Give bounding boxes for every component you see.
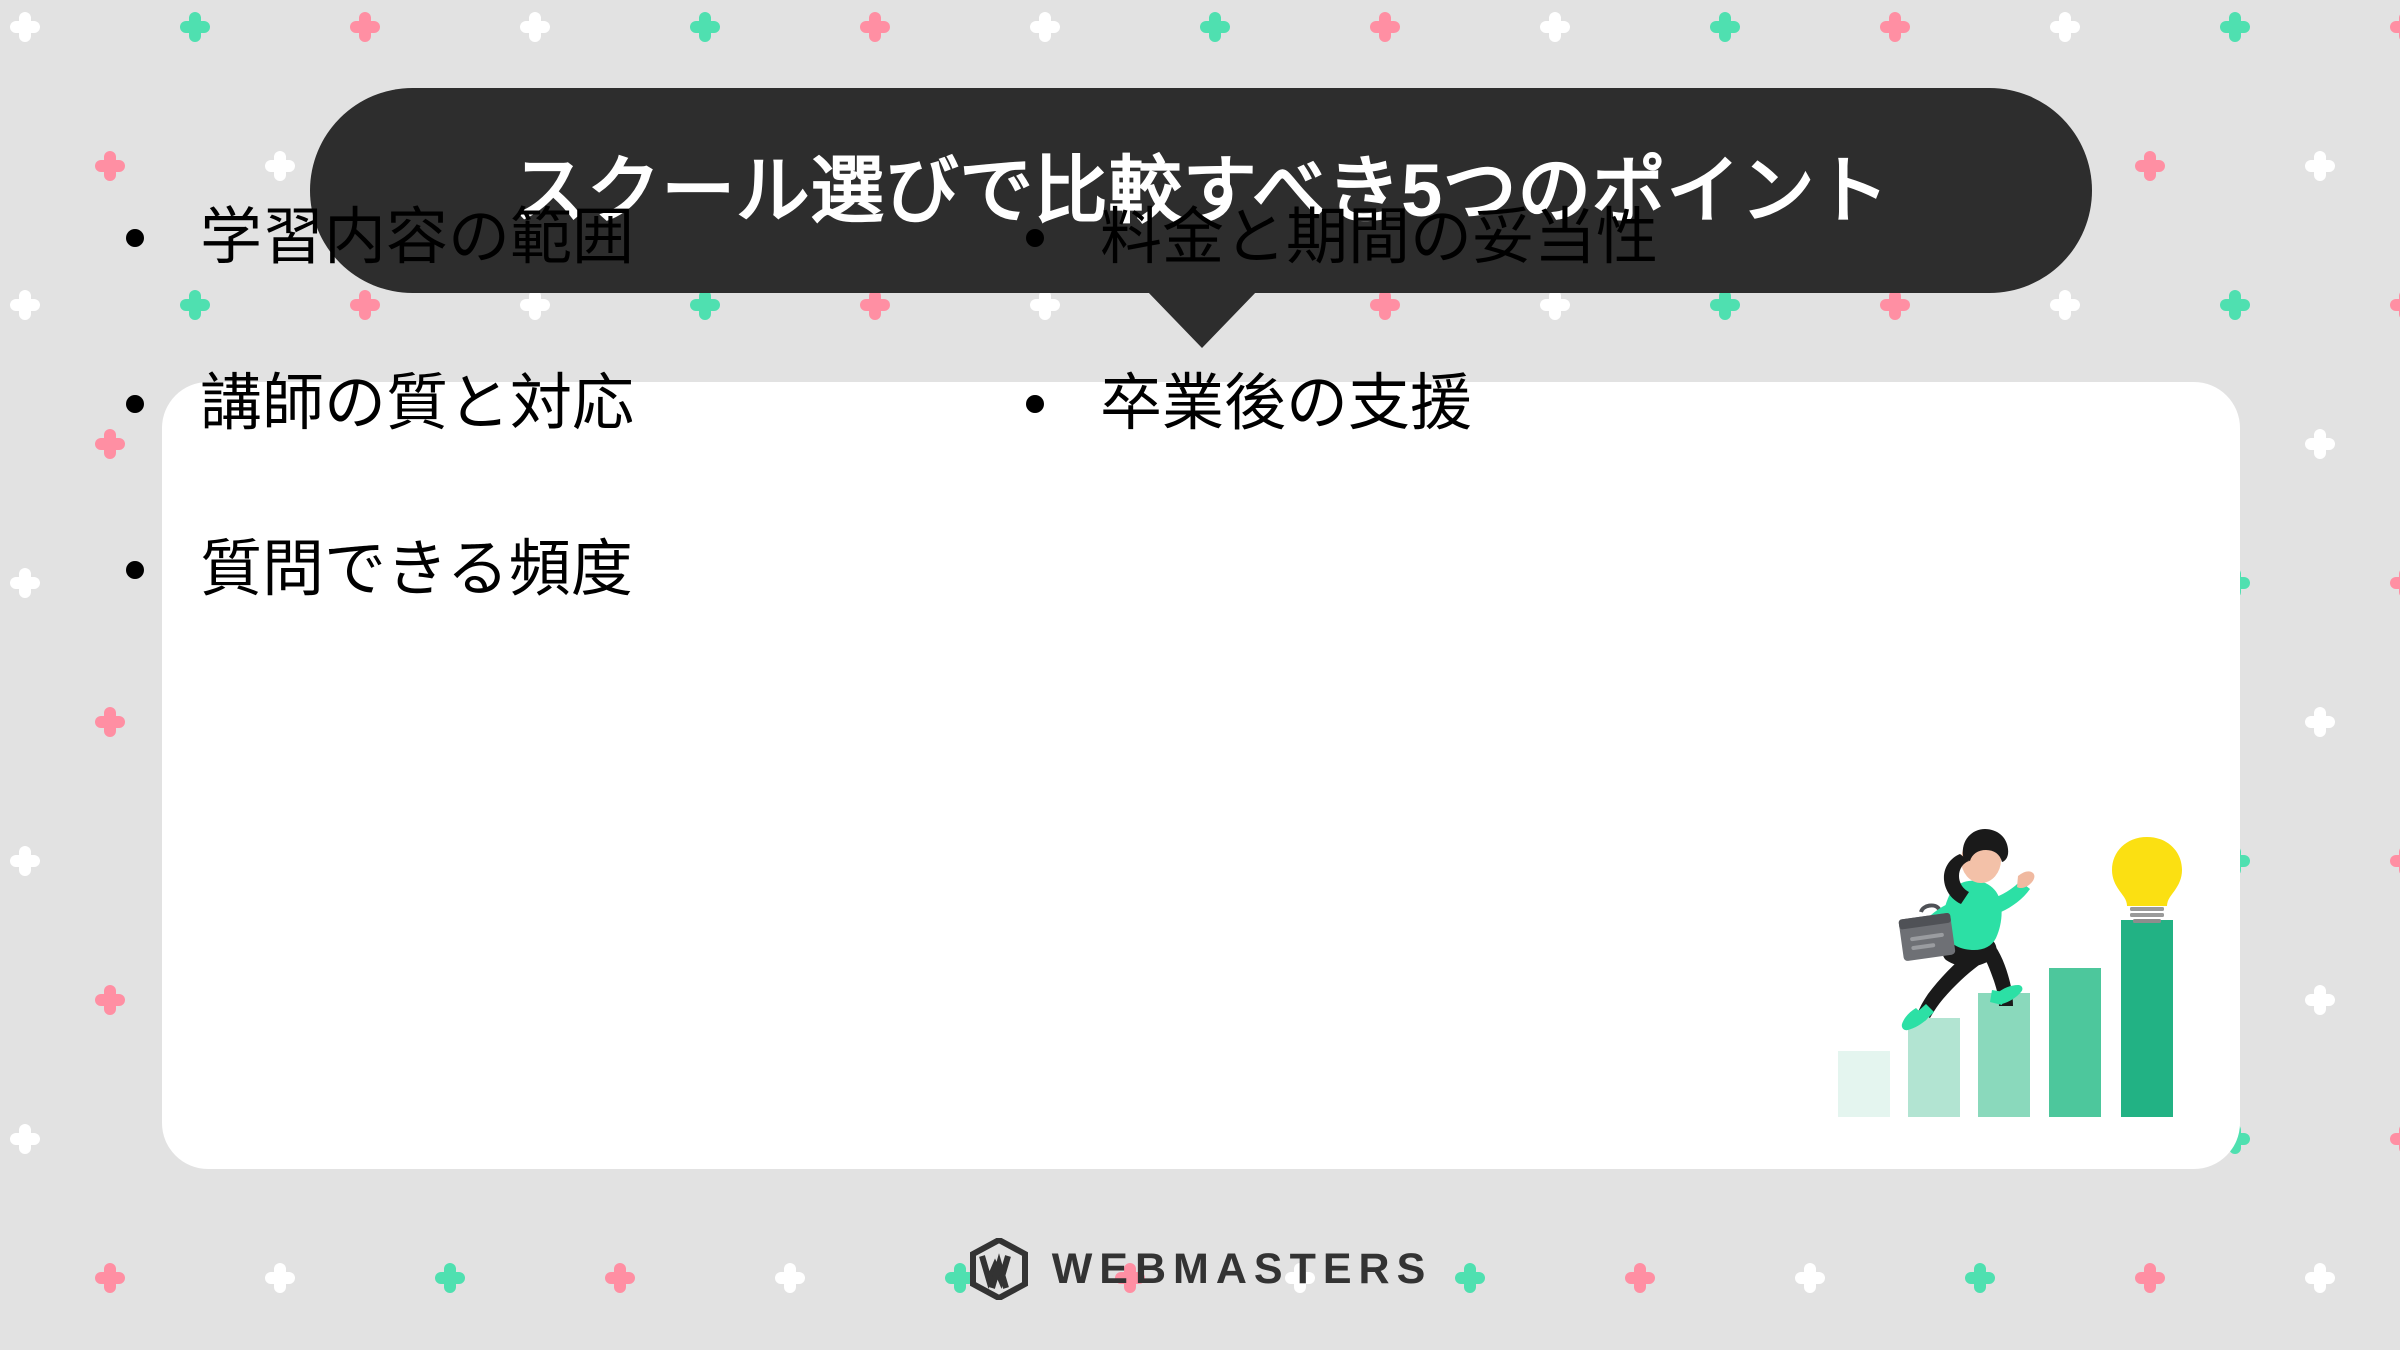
plus-icon xyxy=(690,12,720,42)
plus-icon xyxy=(2390,568,2400,598)
plus-icon xyxy=(2305,707,2335,737)
plus-icon xyxy=(2305,985,2335,1015)
chart-bar-3 xyxy=(1978,993,2030,1117)
plus-icon xyxy=(520,12,550,42)
list-item-label: 卒業後の支援 xyxy=(1100,373,1472,435)
bullet-list-container: 学習内容の範囲 講師の質と対応 質問できる頻度 料金と期間の妥当性 卒業後の支援 xyxy=(126,155,1986,653)
list-item-label: 料金と期間の妥当性 xyxy=(1100,207,1658,269)
plus-icon xyxy=(95,985,125,1015)
plus-icon xyxy=(1880,12,1910,42)
list-item: 料金と期間の妥当性 xyxy=(1026,155,1986,321)
bullet-dot-icon xyxy=(126,561,144,579)
chart-bar-5 xyxy=(2121,920,2173,1117)
plus-icon xyxy=(1540,12,1570,42)
plus-icon xyxy=(10,568,40,598)
plus-icon xyxy=(2390,1124,2400,1154)
plus-icon xyxy=(95,429,125,459)
plus-icon xyxy=(2390,846,2400,876)
bullet-column-left: 学習内容の範囲 講師の質と対応 質問できる頻度 xyxy=(126,155,1026,653)
plus-icon xyxy=(2305,151,2335,181)
chart-bar-2 xyxy=(1908,1018,1960,1117)
plus-icon xyxy=(2135,151,2165,181)
plus-icon xyxy=(2050,290,2080,320)
growth-chart-illustration xyxy=(1818,820,2218,1120)
plus-icon xyxy=(1370,12,1400,42)
bullet-dot-icon xyxy=(1026,395,1044,413)
plus-icon xyxy=(350,12,380,42)
list-item: 講師の質と対応 xyxy=(126,321,1026,487)
list-item-label: 質問できる頻度 xyxy=(200,539,633,601)
plus-icon xyxy=(860,12,890,42)
plus-icon xyxy=(180,12,210,42)
list-item-label: 講師の質と対応 xyxy=(200,373,634,435)
plus-icon xyxy=(10,290,40,320)
plus-icon xyxy=(10,846,40,876)
bullet-dot-icon xyxy=(126,229,144,247)
plus-icon xyxy=(95,707,125,737)
plus-icon xyxy=(1030,12,1060,42)
list-item: 質問できる頻度 xyxy=(126,487,1026,653)
plus-icon xyxy=(10,12,40,42)
plus-icon xyxy=(95,151,125,181)
plus-icon xyxy=(2220,12,2250,42)
plus-icon xyxy=(2390,290,2400,320)
plus-icon xyxy=(2220,290,2250,320)
chart-bar-4 xyxy=(2049,968,2101,1117)
list-item-label: 学習内容の範囲 xyxy=(200,207,634,269)
briefcase-icon xyxy=(1898,905,1955,961)
lightbulb-icon xyxy=(2112,837,2182,923)
bullet-dot-icon xyxy=(126,395,144,413)
list-item: 卒業後の支援 xyxy=(1026,321,1986,487)
plus-icon xyxy=(2390,12,2400,42)
plus-icon xyxy=(2050,12,2080,42)
plus-icon xyxy=(10,1124,40,1154)
footer-logo: WEBMASTERS xyxy=(0,1238,2400,1300)
wm-hexagon-icon xyxy=(968,1238,1030,1300)
list-item: 学習内容の範囲 xyxy=(126,155,1026,321)
plus-icon xyxy=(1200,12,1230,42)
plus-icon xyxy=(1710,12,1740,42)
plus-icon xyxy=(2305,429,2335,459)
chart-bar-1 xyxy=(1838,1051,1890,1117)
bullet-dot-icon xyxy=(1026,229,1044,247)
logo-wordmark: WEBMASTERS xyxy=(1052,1248,1433,1291)
bullet-column-right: 料金と期間の妥当性 卒業後の支援 xyxy=(1026,155,1986,653)
